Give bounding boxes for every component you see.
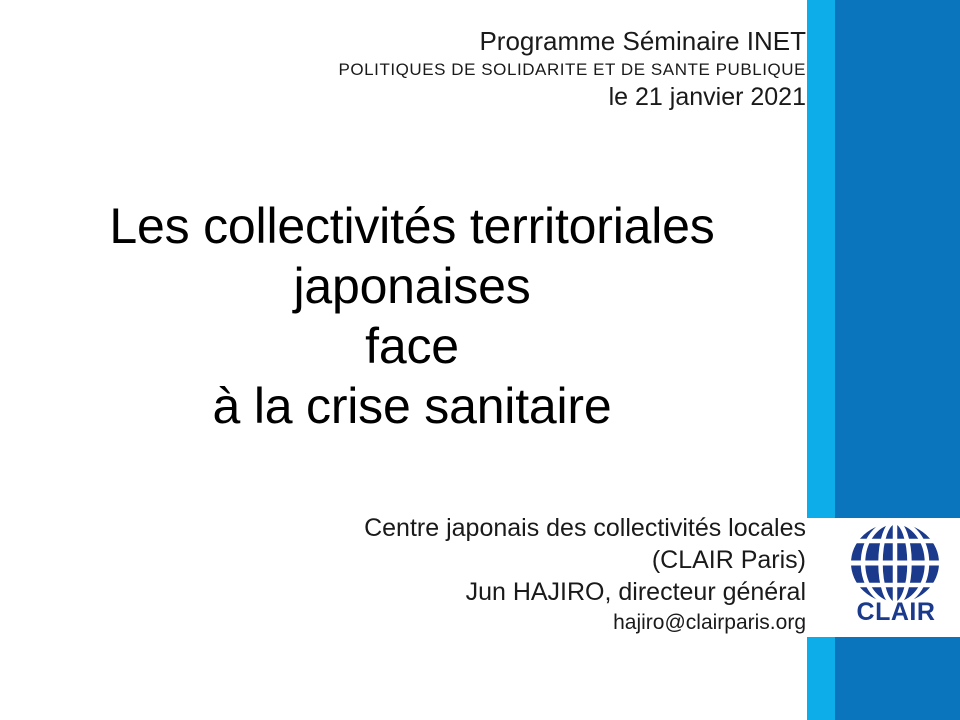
header-subtitle: POLITIQUES DE SOLIDARITE ET DE SANTE PUB… [120,57,806,82]
header-date: le 21 janvier 2021 [120,82,806,113]
slide-header: Programme Séminaire INET POLITIQUES DE S… [120,26,806,113]
author-email: hajiro@clairparis.org [150,608,806,638]
header-programme-title: Programme Séminaire INET [120,26,806,57]
title-line-2: japonaises [24,256,800,316]
organisation-short-name: (CLAIR Paris) [150,544,806,576]
presentation-title-slide: CLAIR Programme Séminaire INET POLITIQUE… [0,0,960,720]
title-line-4: à la crise sanitaire [24,376,800,436]
title-line-3: face [24,316,800,376]
presenter-details: Centre japonais des collectivités locale… [150,512,806,638]
page-title: Les collectivités territoriales japonais… [24,196,800,436]
clair-logo: CLAIR [840,521,952,635]
author-name: Jun HAJIRO, directeur général [150,576,806,608]
globe-icon [848,521,942,605]
organisation-name: Centre japonais des collectivités locale… [150,512,806,544]
clair-wordmark: CLAIR [840,600,952,625]
title-line-1: Les collectivités territoriales [24,196,800,256]
